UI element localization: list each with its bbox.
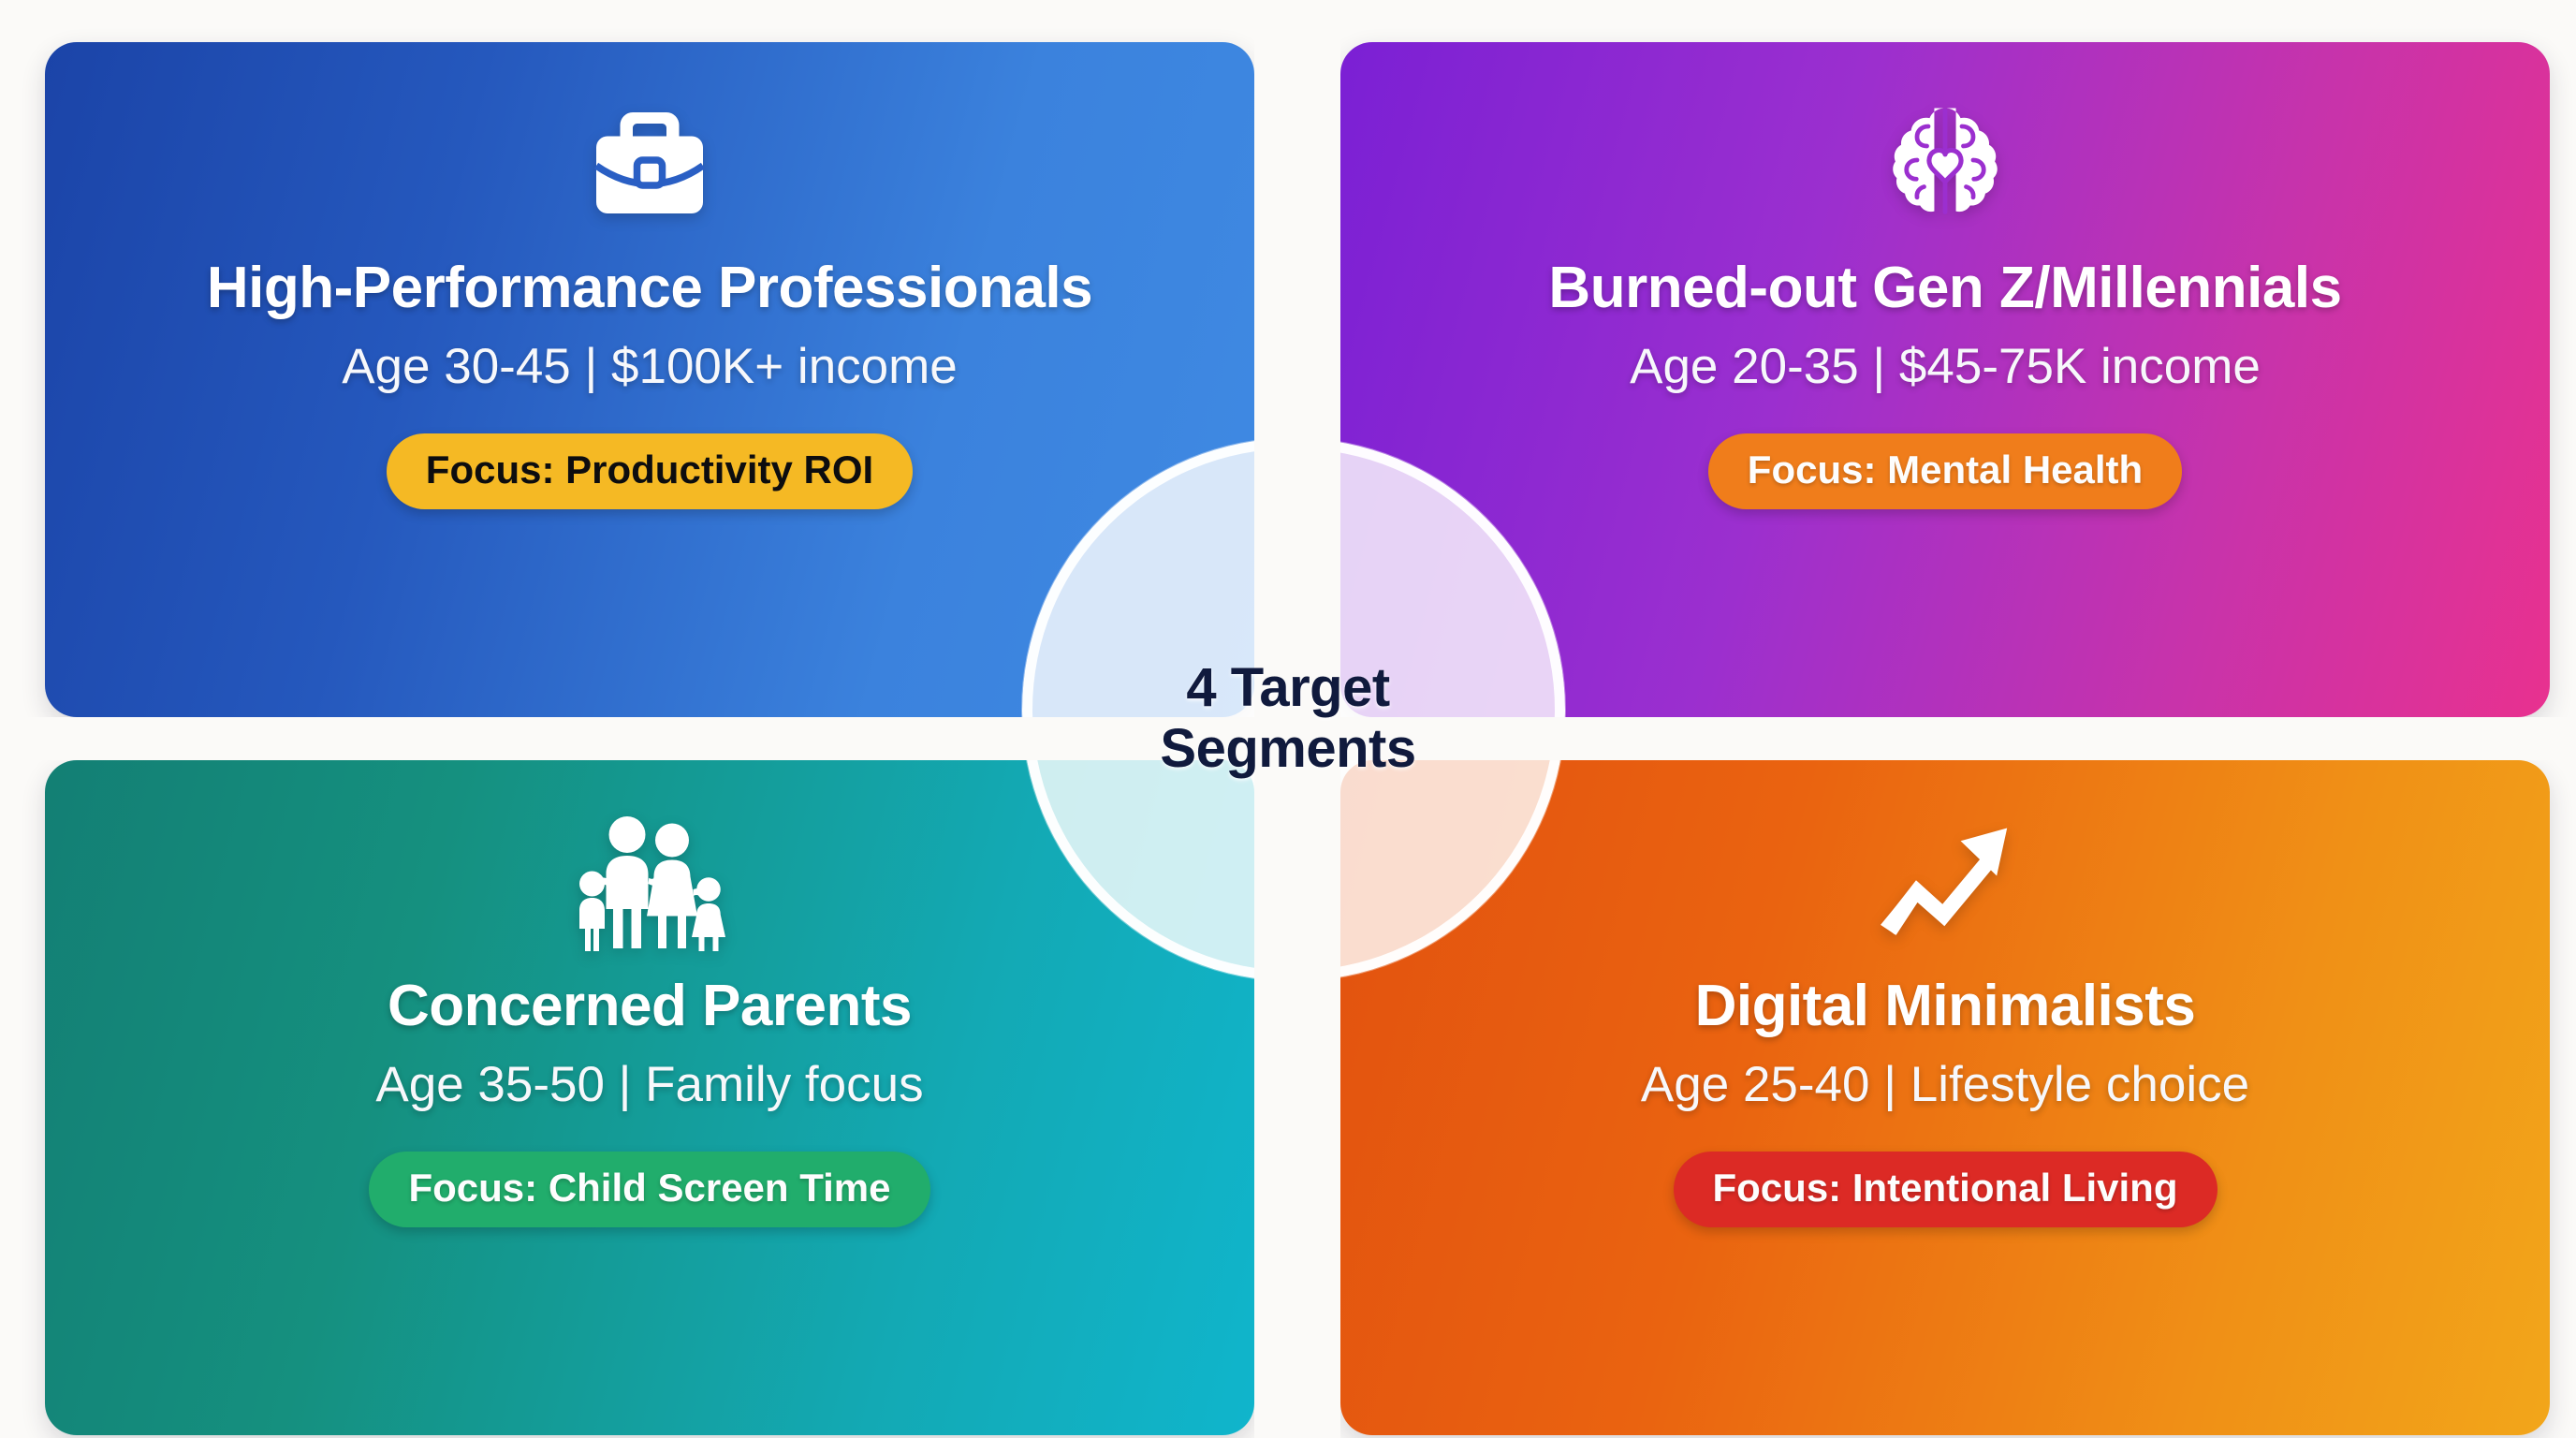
hub-label: 4 Target Segments [0,0,2576,1438]
target-segments-infographic: High-Performance Professionals Age 30-45… [0,0,2576,1438]
hub-label-line-2: Segments [1160,719,1415,780]
hub-label-line-1: 4 Target [1186,658,1389,719]
